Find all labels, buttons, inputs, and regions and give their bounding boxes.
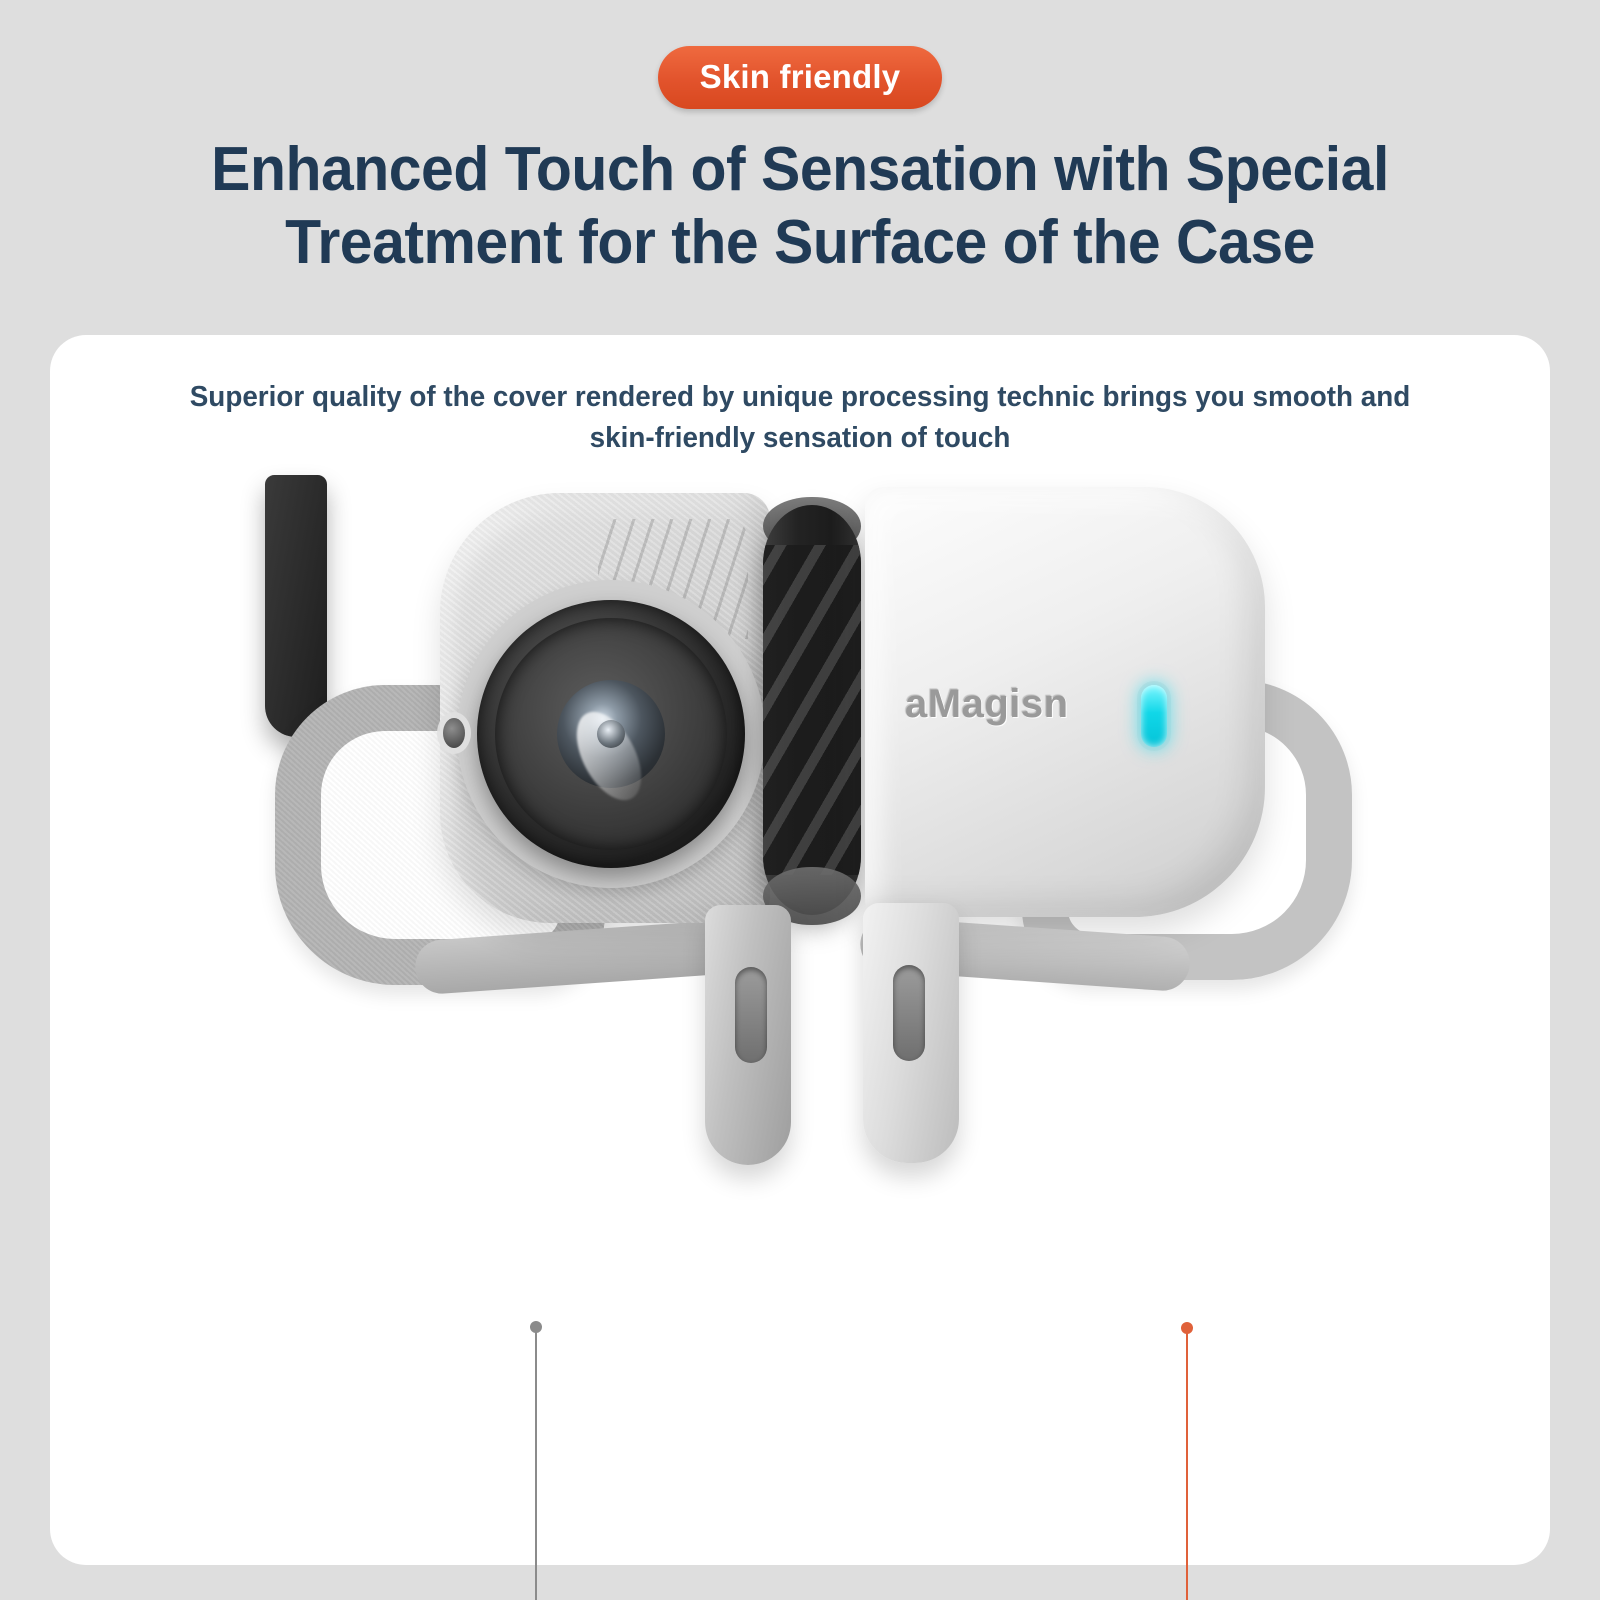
- camera-lens: [477, 600, 745, 868]
- lens-pupil: [597, 720, 625, 748]
- badge-container: Skin friendly: [0, 46, 1600, 109]
- mount-screw-hole-right: [893, 965, 925, 1061]
- headline-line-2: Treatment for the Surface of the Case: [40, 207, 1560, 280]
- marketing-page: Skin friendly Enhanced Touch of Sensatio…: [0, 0, 1600, 1600]
- camera-case-product: aMagisn: [265, 475, 1340, 1275]
- leader-line-right: [1186, 1328, 1188, 1600]
- status-led-indicator: [1141, 685, 1167, 747]
- lens-ring: [495, 618, 727, 850]
- mount-leg-cross-section: [265, 475, 327, 737]
- lens-glass: [557, 680, 665, 788]
- lens-flare: [563, 701, 654, 810]
- case-body-right-smooth: aMagisn: [865, 487, 1265, 917]
- mount-screw-hole-left: [735, 967, 767, 1063]
- microphone-port: [443, 718, 465, 748]
- content-card: Superior quality of the cover rendered b…: [50, 335, 1550, 1565]
- brand-logo: aMagisn: [905, 682, 1069, 727]
- skin-friendly-badge: Skin friendly: [658, 46, 943, 109]
- leader-dot-left: [530, 1321, 542, 1333]
- case-cross-section: [763, 505, 861, 915]
- leader-line-left: [535, 1327, 537, 1600]
- leader-dot-right: [1181, 1322, 1193, 1334]
- headline-line-1: Enhanced Touch of Sensation with Special: [40, 134, 1560, 207]
- card-subtitle: Superior quality of the cover rendered b…: [166, 377, 1433, 459]
- page-title: Enhanced Touch of Sensation with Special…: [40, 134, 1560, 279]
- product-illustration: aMagisn: [50, 455, 1550, 1285]
